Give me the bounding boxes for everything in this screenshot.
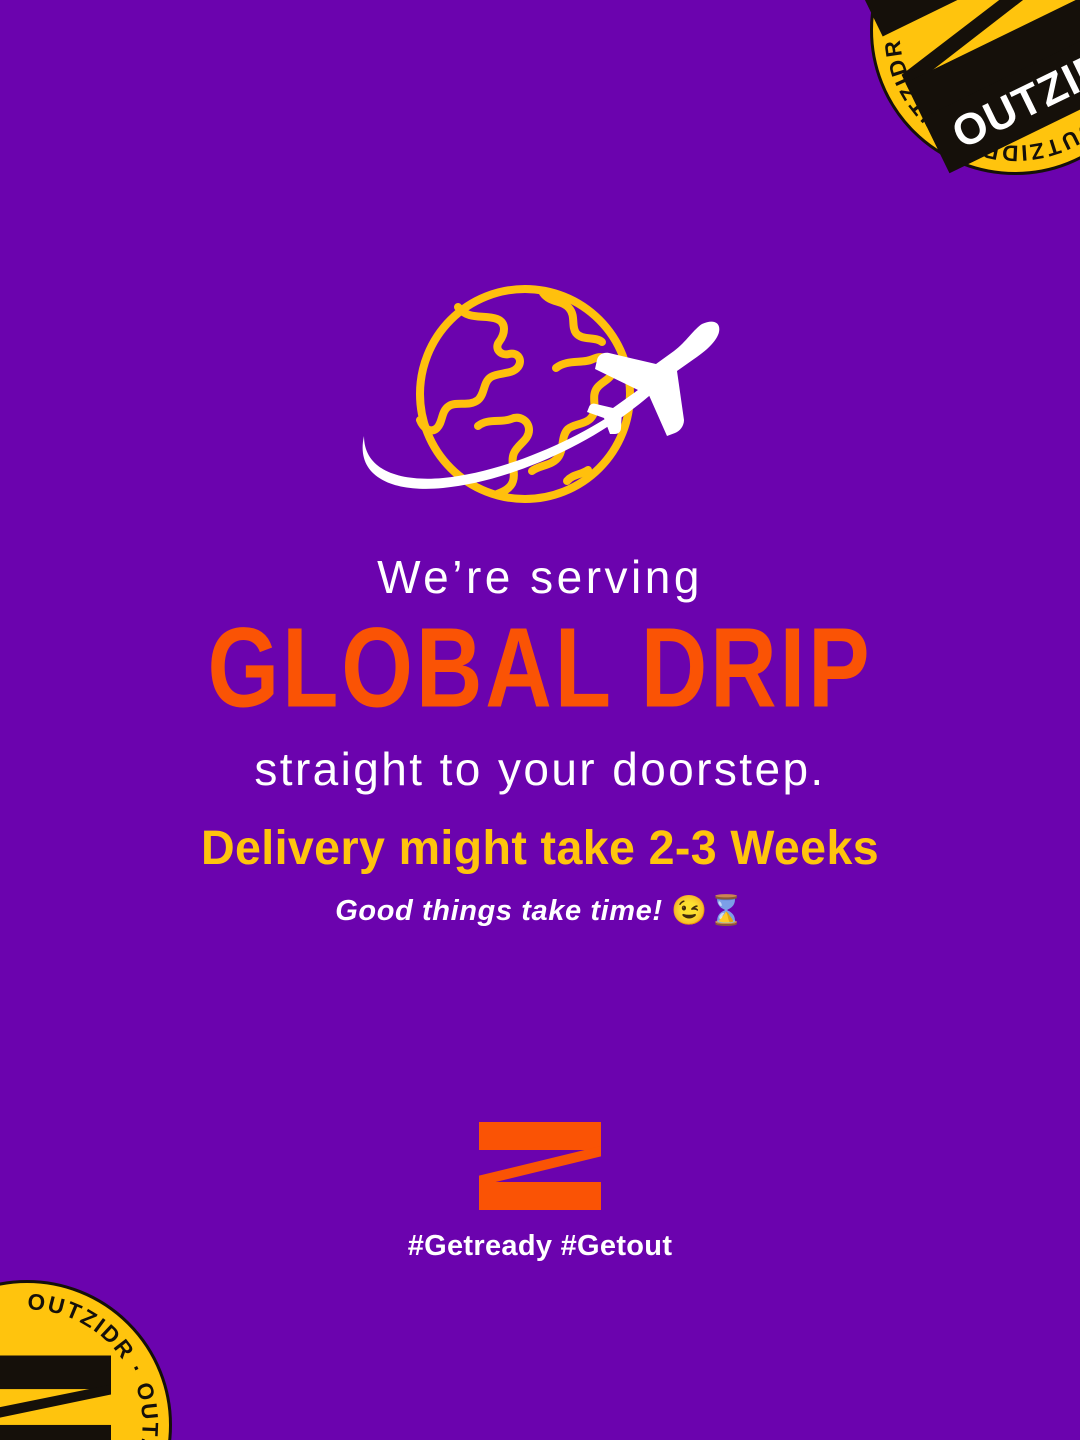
footer-block: #Getready #Getout <box>0 1122 1080 1263</box>
headline-title: GLOBAL DRIP <box>22 612 1059 725</box>
logo-z-diagonal <box>479 1146 601 1186</box>
badge-z-top-bar <box>0 1355 111 1389</box>
delivery-block: Delivery might take 2-3 Weeks Good thing… <box>0 820 1080 928</box>
footer-hashtags: #Getready #Getout <box>0 1230 1080 1263</box>
badge-z-mark-bottom-left: OUTZIDR <box>0 1355 111 1440</box>
badge-bottom-left: OUTZIDR · OUTZIDR · OUTZIDR · OUTZIDR · … <box>0 1280 172 1440</box>
badge-z-icon <box>0 1355 111 1440</box>
headline-block: We’re serving GLOBAL DRIP straight to yo… <box>0 550 1080 797</box>
logo-z-bottom-bar <box>479 1182 601 1210</box>
badge-z-diagonal <box>0 1384 111 1429</box>
delivery-note-text: Good things take time! <box>335 895 662 927</box>
logo-z-top-bar <box>479 1122 601 1150</box>
globe-airplane-icon <box>357 276 723 512</box>
delivery-headline: Delivery might take 2-3 Weeks <box>16 820 1064 878</box>
wink-hourglass-emoji: 😉⌛ <box>671 895 744 927</box>
badge-z-bottom-bar <box>0 1424 111 1440</box>
globe-airplane-svg <box>357 276 723 512</box>
headline-kicker: We’re serving <box>0 550 1080 604</box>
headline-subtitle: straight to your doorstep. <box>0 742 1080 797</box>
delivery-note: Good things take time! 😉⌛ <box>0 894 1080 928</box>
outzidr-z-logo-icon <box>479 1122 601 1210</box>
badge-top-right: OUTZIDR · OUTZIDR · OUTZIDR · OUTZIDR · … <box>870 0 1080 175</box>
